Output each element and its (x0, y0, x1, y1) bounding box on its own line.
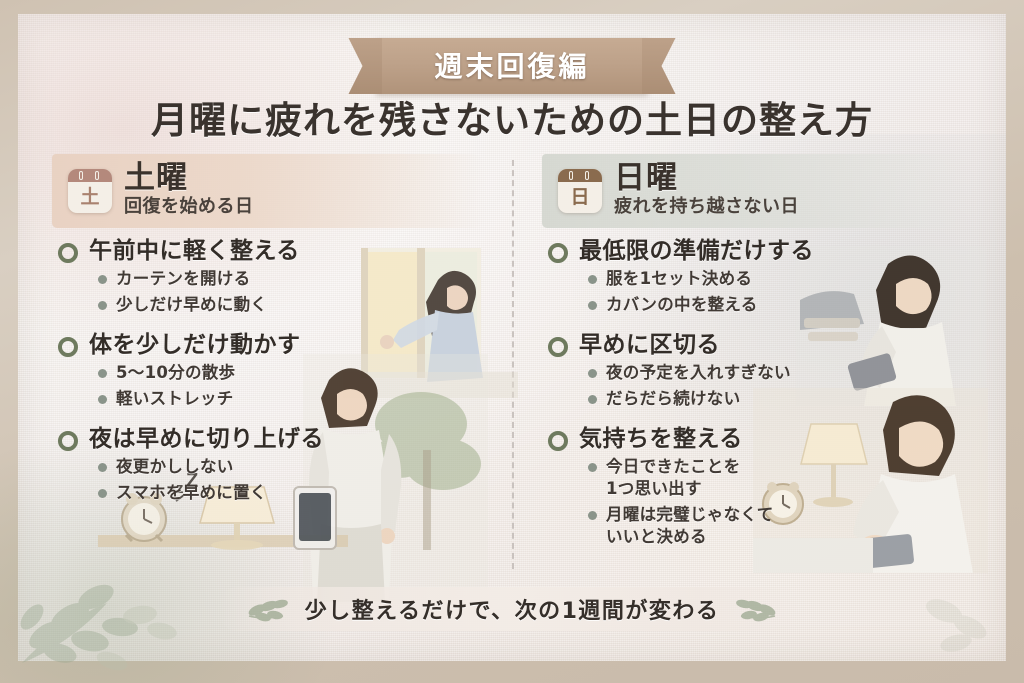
ring-bullet-icon (548, 431, 568, 451)
dot-bullet-icon (98, 301, 107, 310)
item-subitems: 服を1セット決める カバンの中を整える (588, 268, 972, 316)
list-item: 午前中に軽く整える カーテンを開ける 少しだけ早めに動く (58, 238, 486, 316)
day-header-saturday: 土 土曜 回復を始める日 (52, 154, 486, 228)
ring-bullet-icon (58, 243, 78, 263)
sub-item: 夜の予定を入れすぎない (588, 362, 972, 384)
ring-bullet-icon (548, 337, 568, 357)
calendar-ring-left (79, 171, 83, 180)
column-sunday: 日 日曜 疲れを持ち越さない日 最低限の準備だけする (512, 154, 978, 575)
leaf-decoration-left-icon (247, 596, 291, 622)
sub-item: スマホを早めに置く (98, 482, 486, 504)
paper-background: 週末回復編 月曜に疲れを残さないための土日の整え方 (18, 14, 1006, 661)
sub-item-text: 軽いストレッチ (116, 388, 234, 410)
dot-bullet-icon (588, 369, 597, 378)
sub-item-text: 今日できたことを 1つ思い出す (606, 456, 740, 500)
list-item: 気持ちを整える 今日できたことを 1つ思い出す 月曜は完璧じゃなくて いいと決め… (548, 426, 972, 548)
ribbon-shape: 週末回復編 (376, 38, 647, 94)
sub-item: 軽いストレッチ (98, 388, 486, 410)
item-heading: 早めに区切る (548, 332, 972, 358)
sub-item: 少しだけ早めに動く (98, 294, 486, 316)
footer: 少し整えるだけで、次の1週間が変わる (18, 593, 1006, 625)
sub-item: カーテンを開ける (98, 268, 486, 290)
day-columns: z Z (46, 154, 978, 575)
dot-bullet-icon (98, 369, 107, 378)
sub-item: 月曜は完璧じゃなくて いいと決める (588, 504, 972, 548)
item-subitems: 夜更かししない スマホを早めに置く (98, 456, 486, 504)
dot-bullet-icon (98, 489, 107, 498)
dot-bullet-icon (98, 463, 107, 472)
footer-text: 少し整えるだけで、次の1週間が変わる (305, 593, 720, 625)
list-item: 最低限の準備だけする 服を1セット決める カバンの中を整える (548, 238, 972, 316)
item-title: 気持ちを整える (579, 426, 743, 452)
sub-item-text: カーテンを開ける (116, 268, 250, 290)
dot-bullet-icon (98, 275, 107, 284)
item-subitems: 5〜10分の散歩 軽いストレッチ (98, 362, 486, 410)
sub-item: 5〜10分の散歩 (98, 362, 486, 384)
day-name-sunday: 日曜 (614, 163, 799, 195)
calendar-day-glyph: 日 (558, 182, 602, 213)
dot-bullet-icon (588, 463, 597, 472)
item-subitems: カーテンを開ける 少しだけ早めに動く (98, 268, 486, 316)
sub-item-text: 少しだけ早めに動く (116, 294, 267, 316)
calendar-top-bar (68, 169, 112, 182)
ribbon-banner: 週末回復編 (18, 38, 1006, 94)
dot-bullet-icon (588, 395, 597, 404)
item-list-saturday: 午前中に軽く整える カーテンを開ける 少しだけ早めに動く (52, 238, 486, 504)
calendar-sunday-icon: 日 (558, 169, 602, 213)
item-heading: 気持ちを整える (548, 426, 972, 452)
item-heading: 夜は早めに切り上げる (58, 426, 486, 452)
sub-item-text: 月曜は完璧じゃなくて いいと決める (606, 504, 774, 548)
calendar-ring-right (95, 171, 99, 180)
item-heading: 最低限の準備だけする (548, 238, 972, 264)
list-item: 早めに区切る 夜の予定を入れすぎない だらだら続けない (548, 332, 972, 410)
infographic-poster: 週末回復編 月曜に疲れを残さないための土日の整え方 (0, 0, 1024, 683)
sub-item: カバンの中を整える (588, 294, 972, 316)
list-item: 夜は早めに切り上げる 夜更かししない スマホを早めに置く (58, 426, 486, 504)
calendar-saturday-icon: 土 (68, 169, 112, 213)
column-saturday: z Z (46, 154, 512, 575)
sub-item-text: 5〜10分の散歩 (116, 362, 235, 384)
item-title: 午前中に軽く整える (89, 238, 300, 264)
day-name-saturday: 土曜 (124, 163, 254, 195)
sub-item-text: 夜の予定を入れすぎない (606, 362, 791, 384)
ring-bullet-icon (58, 431, 78, 451)
item-title: 最低限の準備だけする (579, 238, 814, 264)
list-item: 体を少しだけ動かす 5〜10分の散歩 軽いストレッチ (58, 332, 486, 410)
sub-item: だらだら続けない (588, 388, 972, 410)
sub-item-text: スマホを早めに置く (116, 482, 267, 504)
sub-item-text: 夜更かししない (116, 456, 234, 478)
item-subitems: 今日できたことを 1つ思い出す 月曜は完璧じゃなくて いいと決める (588, 456, 972, 547)
sub-item-text: だらだら続けない (606, 388, 740, 410)
item-title: 早めに区切る (579, 332, 720, 358)
dot-bullet-icon (588, 275, 597, 284)
calendar-ring-right (585, 171, 589, 180)
dot-bullet-icon (588, 301, 597, 310)
day-subtitle-sunday: 疲れを持ち越さない日 (614, 196, 799, 219)
page-title: 月曜に疲れを残さないための土日の整え方 (18, 90, 1006, 144)
ribbon-label: 週末回復編 (434, 50, 589, 83)
dot-bullet-icon (98, 395, 107, 404)
item-title: 体を少しだけ動かす (89, 332, 301, 358)
sub-item: 服を1セット決める (588, 268, 972, 290)
calendar-ring-left (569, 171, 573, 180)
ring-bullet-icon (58, 337, 78, 357)
calendar-top-bar (558, 169, 602, 182)
sub-item-text: カバンの中を整える (606, 294, 758, 316)
day-label-group-saturday: 土曜 回復を始める日 (124, 163, 254, 218)
sub-item: 夜更かししない (98, 456, 486, 478)
day-header-sunday: 日 日曜 疲れを持ち越さない日 (542, 154, 972, 228)
item-heading: 午前中に軽く整える (58, 238, 486, 264)
day-label-group-sunday: 日曜 疲れを持ち越さない日 (614, 163, 799, 218)
item-heading: 体を少しだけ動かす (58, 332, 486, 358)
ring-bullet-icon (548, 243, 568, 263)
day-subtitle-saturday: 回復を始める日 (124, 196, 254, 219)
item-subitems: 夜の予定を入れすぎない だらだら続けない (588, 362, 972, 410)
leaf-decoration-right-icon (733, 596, 777, 622)
sub-item-text: 服を1セット決める (606, 268, 752, 290)
calendar-day-glyph: 土 (68, 182, 112, 213)
item-list-sunday: 最低限の準備だけする 服を1セット決める カバンの中を整える (542, 238, 972, 547)
dot-bullet-icon (588, 511, 597, 520)
sub-item: 今日できたことを 1つ思い出す (588, 456, 972, 500)
item-title: 夜は早めに切り上げる (89, 426, 324, 452)
